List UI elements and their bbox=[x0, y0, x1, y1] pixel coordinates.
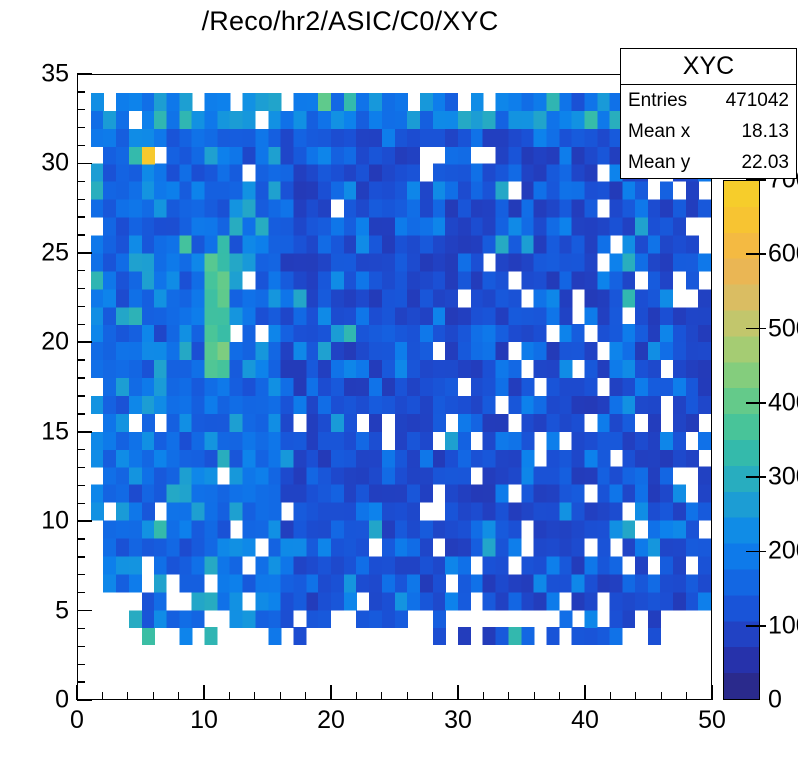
x-axis-minor-tick bbox=[102, 692, 103, 700]
y-axis-major-tick bbox=[77, 341, 92, 343]
x-axis-minor-tick bbox=[280, 692, 281, 700]
y-axis-minor-tick bbox=[77, 324, 85, 325]
x-axis-minor-tick bbox=[610, 692, 611, 700]
x-axis-minor-tick bbox=[229, 692, 230, 700]
x-axis-tick-label: 0 bbox=[70, 706, 84, 735]
y-axis-major-tick bbox=[77, 520, 92, 522]
colorbar-tick bbox=[746, 625, 766, 627]
colorbar-tick bbox=[746, 551, 766, 553]
stats-value-mean-x: 18.13 bbox=[741, 116, 789, 147]
stats-key-mean-y: Mean y bbox=[628, 147, 690, 178]
y-axis-minor-tick bbox=[77, 216, 85, 217]
y-axis-tick-label: 15 bbox=[41, 417, 69, 446]
stats-value-entries: 471042 bbox=[726, 85, 789, 116]
y-axis-minor-tick bbox=[77, 109, 85, 110]
y-axis-minor-tick bbox=[77, 646, 85, 647]
y-axis-minor-tick bbox=[77, 413, 85, 414]
y-axis-minor-tick bbox=[77, 538, 85, 539]
y-axis-tick-label: 25 bbox=[41, 238, 69, 267]
y-axis-tick-label: 35 bbox=[41, 60, 69, 89]
colorbar-tick bbox=[746, 476, 766, 478]
x-axis-minor-tick bbox=[254, 692, 255, 700]
y-axis-minor-tick bbox=[77, 592, 85, 593]
x-axis-minor-tick bbox=[356, 692, 357, 700]
y-axis-labels: 05101520253035 bbox=[0, 0, 69, 776]
y-axis-minor-tick bbox=[77, 395, 85, 396]
stats-row-entries: Entries 471042 bbox=[621, 85, 796, 116]
stats-value-mean-y: 22.03 bbox=[741, 147, 789, 178]
y-axis-minor-tick bbox=[77, 145, 85, 146]
x-axis-tick-label: 40 bbox=[571, 706, 599, 735]
y-axis-minor-tick bbox=[77, 359, 85, 360]
x-axis-minor-tick bbox=[635, 692, 636, 700]
heatmap-image bbox=[78, 75, 711, 699]
y-axis-minor-tick bbox=[77, 681, 85, 682]
y-axis-minor-tick bbox=[77, 270, 85, 271]
x-axis-labels: 01020304050 bbox=[0, 706, 798, 746]
y-axis-minor-tick bbox=[77, 664, 85, 665]
y-axis-minor-tick bbox=[77, 91, 85, 92]
colorbar-tick-label: 600 bbox=[768, 240, 798, 269]
y-axis-minor-tick bbox=[77, 288, 85, 289]
y-axis-minor-tick bbox=[77, 449, 85, 450]
y-axis-minor-tick bbox=[77, 377, 85, 378]
x-axis-major-tick bbox=[711, 685, 713, 700]
x-axis-major-tick bbox=[203, 685, 205, 700]
stats-key-entries: Entries bbox=[628, 85, 687, 116]
colorbar-tick-label: 0 bbox=[768, 686, 782, 715]
colorbar-tick bbox=[746, 328, 766, 330]
y-axis-major-tick bbox=[77, 699, 92, 701]
x-axis-minor-tick bbox=[686, 692, 687, 700]
x-axis-minor-tick bbox=[483, 692, 484, 700]
colorbar bbox=[723, 180, 760, 700]
x-axis-major-tick bbox=[457, 685, 459, 700]
y-axis-minor-tick bbox=[77, 467, 85, 468]
x-axis-minor-tick bbox=[432, 692, 433, 700]
page-title: /Reco/hr2/ASIC/C0/XYC bbox=[0, 6, 700, 37]
stats-box[interactable]: XYC Entries 471042 Mean x 18.13 Mean y 2… bbox=[620, 48, 797, 179]
y-axis-major-tick bbox=[77, 252, 92, 254]
colorbar-tick-label: 100 bbox=[768, 611, 798, 640]
y-axis-tick-label: 5 bbox=[55, 596, 69, 625]
y-axis-minor-tick bbox=[77, 574, 85, 575]
x-axis-minor-tick bbox=[559, 692, 560, 700]
root-canvas: /Reco/hr2/ASIC/C0/XYC 05101520253035 010… bbox=[0, 0, 798, 776]
colorbar-tick bbox=[746, 253, 766, 255]
colorbar-tick-label: 400 bbox=[768, 388, 798, 417]
y-axis-major-tick bbox=[77, 163, 92, 165]
y-axis-tick-label: 30 bbox=[41, 149, 69, 178]
stats-key-mean-x: Mean x bbox=[628, 116, 690, 147]
y-axis-major-tick bbox=[77, 431, 92, 433]
y-axis-minor-tick bbox=[77, 234, 85, 235]
colorbar-tick-label: 300 bbox=[768, 463, 798, 492]
y-axis-minor-tick bbox=[77, 485, 85, 486]
colorbar-tick bbox=[746, 402, 766, 404]
x-axis-tick-label: 30 bbox=[444, 706, 472, 735]
stats-row-mean-y: Mean y 22.03 bbox=[621, 147, 796, 178]
y-axis-tick-label: 20 bbox=[41, 328, 69, 357]
x-axis-major-tick bbox=[76, 685, 78, 700]
x-axis-major-tick bbox=[584, 685, 586, 700]
x-axis-tick-label: 20 bbox=[317, 706, 345, 735]
colorbar-tick-label: 500 bbox=[768, 314, 798, 343]
y-axis-minor-tick bbox=[77, 503, 85, 504]
y-axis-tick-label: 10 bbox=[41, 507, 69, 536]
x-axis-minor-tick bbox=[508, 692, 509, 700]
x-axis-minor-tick bbox=[153, 692, 154, 700]
x-axis-tick-label: 10 bbox=[190, 706, 218, 735]
y-axis-minor-tick bbox=[77, 628, 85, 629]
x-axis-minor-tick bbox=[661, 692, 662, 700]
stats-row-mean-x: Mean x 18.13 bbox=[621, 116, 796, 147]
x-axis-major-tick bbox=[330, 685, 332, 700]
x-axis-minor-tick bbox=[534, 692, 535, 700]
x-axis-minor-tick bbox=[127, 692, 128, 700]
y-axis-minor-tick bbox=[77, 306, 85, 307]
y-axis-minor-tick bbox=[77, 199, 85, 200]
x-axis-minor-tick bbox=[407, 692, 408, 700]
y-axis-major-tick bbox=[77, 610, 92, 612]
x-axis-minor-tick bbox=[381, 692, 382, 700]
y-axis-minor-tick bbox=[77, 181, 85, 182]
plot-frame bbox=[77, 74, 712, 700]
x-axis-tick-label: 50 bbox=[698, 706, 726, 735]
x-axis-minor-tick bbox=[178, 692, 179, 700]
x-axis-minor-tick bbox=[305, 692, 306, 700]
y-axis-minor-tick bbox=[77, 556, 85, 557]
y-axis-major-tick bbox=[77, 73, 92, 75]
colorbar-tick-label: 200 bbox=[768, 537, 798, 566]
stats-title: XYC bbox=[621, 49, 796, 85]
y-axis-minor-tick bbox=[77, 127, 85, 128]
colorbar-tick bbox=[746, 179, 766, 181]
